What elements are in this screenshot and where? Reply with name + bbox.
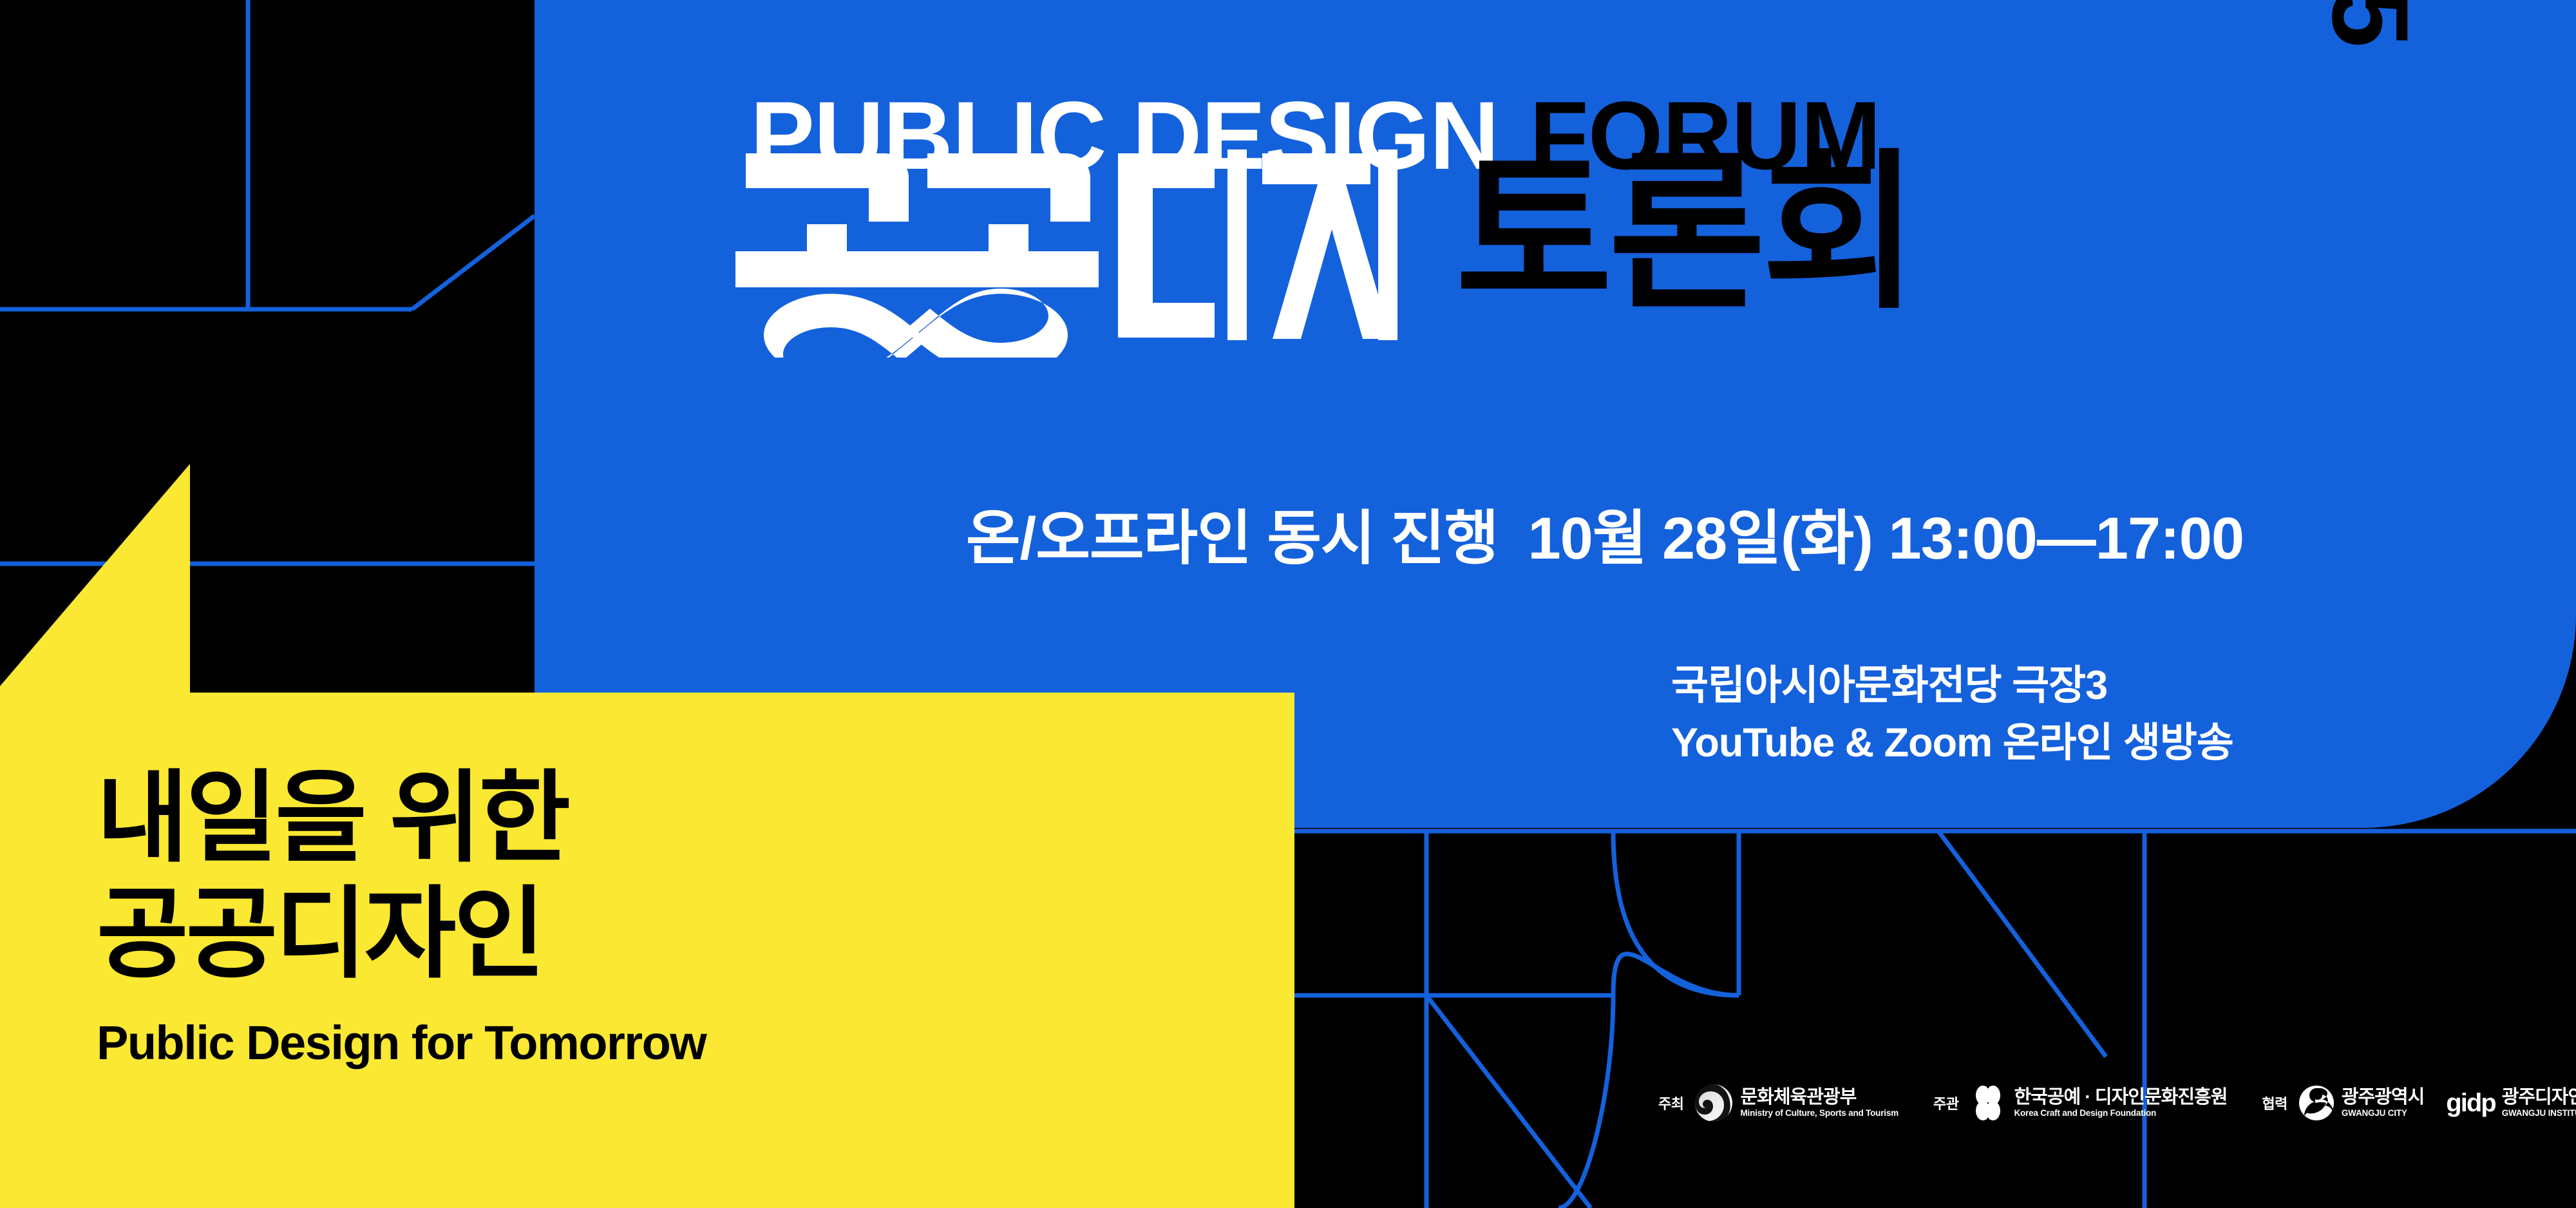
sponsor-role-cooperation: 협력 [2262,1093,2287,1113]
headline-korean-row: 토론회 [734,148,1915,354]
stream-channels: YouTube & Zoom 온라인 생방송 [1671,714,2233,772]
slogan-english: Public Design for Tomorrow [97,1015,706,1070]
sponsor-item-organizer: 주관 한국공예 · 디자인문화진흥원 [1933,1084,2227,1122]
sponsor-item-gidp: gidp 광주디자인진흥원 GWANGJU INSTITUTE OF DESIG… [2446,1088,2576,1119]
sponsor-name-gidp: 광주디자인진흥원 GWANGJU INSTITUTE OF DESIGN PRO… [2502,1088,2576,1119]
four-petal-icon [1969,1084,2007,1122]
event-mode-and-datetime: 온/오프라인 동시 진행10월 28일(화) 13:00—17:00 [966,509,2244,568]
gwangju-figure-icon [2298,1084,2335,1122]
headline-block: PUBLIC DESIGN FORUM 2025 [734,64,2409,503]
event-mode: 온/오프라인 동시 진행 [966,506,1498,571]
sponsor-strip: 주최 문화체육관광부 Ministry of Culture, Sports a… [1658,1071,2576,1135]
year-badge: 2025 [2316,0,2425,52]
slogan-line-2: 공공디자인 [97,876,706,992]
poster-canvas: PUBLIC DESIGN FORUM 2025 [0,0,2576,1208]
event-datetime: 10월 28일(화) 13:00—17:00 [1528,506,2244,571]
venue-name: 국립아시아문화전당 극장3 [1671,657,2233,714]
sponsor-item-cooperation: 협력 광주광역시 GWANGJU CITY [2262,1084,2424,1122]
sponsor-role-organizer: 주관 [1933,1093,1958,1113]
sponsor-role-host: 주최 [1658,1093,1683,1113]
sponsor-name-cooperation: 광주광역시 GWANGJU CITY [2342,1088,2424,1119]
slogan-line-1: 내일을 위한 [97,760,706,876]
title-toronhoe: 토론회 [1455,148,1915,319]
sponsor-name-host: 문화체육관광부 Ministry of Culture, Sports and … [1740,1088,1898,1119]
sponsor-name-organizer: 한국공예 · 디자인문화진흥원 Korea Craft and Design F… [2014,1088,2227,1119]
slogan-block: 내일을 위한 공공디자인 Public Design for Tomorrow [97,760,706,1070]
title-gonggong-design-lockup [734,148,1436,354]
venue-block: 국립아시아문화전당 극장3 YouTube & Zoom 온라인 생방송 [1671,657,2233,772]
gidp-wordmark-icon: gidp [2446,1090,2495,1116]
sponsor-item-host: 주최 문화체육관광부 Ministry of Culture, Sports a… [1658,1083,1899,1123]
taegeuk-swirl-icon [1694,1083,1734,1123]
